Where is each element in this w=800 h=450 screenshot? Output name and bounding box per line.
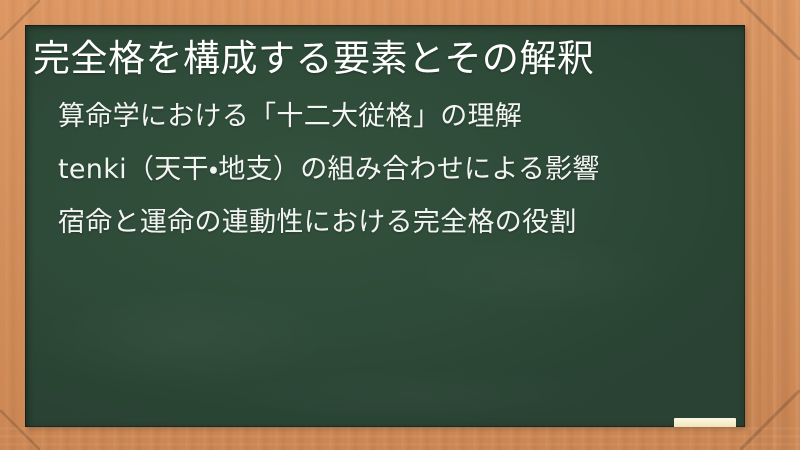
chalk-stick-icon — [674, 418, 736, 427]
bullet-list: 算命学における「十二大従格」の理解 tenki（天干・地支）の組み合わせによる影… — [58, 103, 738, 236]
slide-canvas: 完全格を構成する要素とその解釈 算命学における「十二大従格」の理解 tenki（… — [0, 0, 800, 450]
slide-title: 完全格を構成する要素とその解釈 — [33, 35, 733, 82]
wood-frame-right-rail — [744, 0, 800, 450]
bullet-item-2: tenki（天干・地支）の組み合わせによる影響 — [58, 156, 738, 183]
frame-miter-top-right — [740, 0, 800, 60]
bullet-item-3: 宿命と運命の連動性における完全格の役割 — [58, 209, 738, 236]
chalkboard-content: 完全格を構成する要素とその解釈 算命学における「十二大従格」の理解 tenki（… — [25, 25, 745, 427]
wood-frame-bottom-rail — [0, 427, 800, 450]
chalkboard-surface: 完全格を構成する要素とその解釈 算命学における「十二大従格」の理解 tenki（… — [25, 25, 745, 427]
frame-miter-bottom-right — [740, 390, 800, 450]
bullet-item-1: 算命学における「十二大従格」の理解 — [58, 103, 738, 130]
